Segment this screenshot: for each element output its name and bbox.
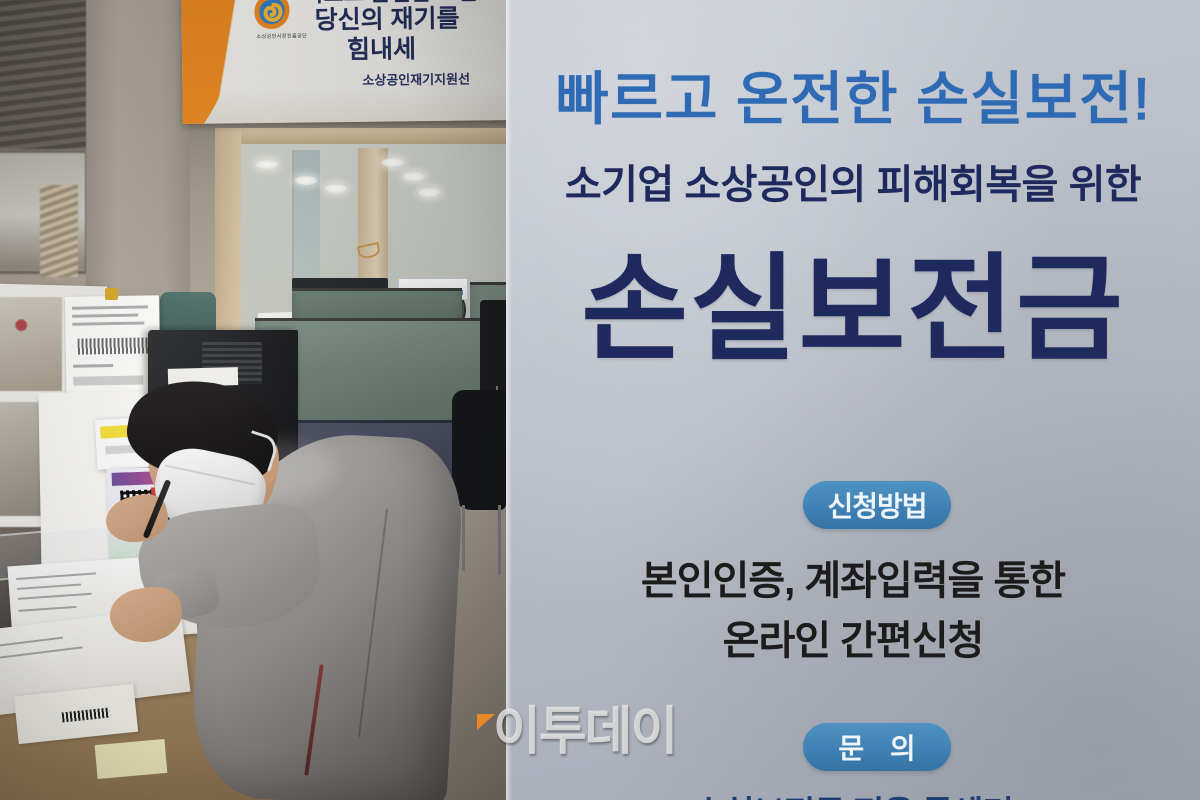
applicant-person <box>120 388 450 800</box>
banner-swoosh-graphic <box>181 0 253 124</box>
notice-barcode <box>78 337 152 354</box>
poster-main-title: 손실보전금 <box>506 215 1200 383</box>
poster-headline-top: 빠르고 온전한 손실보전! <box>506 52 1200 136</box>
screenshot-root: 소상공인시장진흥공단 빠르고 온전한 보전 당신의 재기를 힘내세 소상공인재기… <box>0 0 1200 800</box>
sbiz-support-banner: 소상공인시장진흥공단 빠르고 온전한 보전 당신의 재기를 힘내세 소상공인재기… <box>181 0 506 124</box>
poster-subheadline: 소기업 소상공인의 피해회복을 위한 <box>506 152 1200 210</box>
binder-clip <box>105 288 118 300</box>
notice-text-line <box>72 305 148 309</box>
poster-description-line1: 본인인증, 계좌입력을 통한 <box>506 548 1200 606</box>
sbiz-logo-icon <box>251 0 291 31</box>
banner-line3: 힘내세 <box>347 28 506 66</box>
interior-wall-divider <box>292 150 294 298</box>
form-text-line <box>0 646 82 659</box>
ceiling-light <box>325 184 347 193</box>
form-text-line <box>18 593 92 600</box>
displayed-artwork <box>0 295 64 393</box>
form-text-line <box>18 606 76 612</box>
badge-application-method: 신청방법 <box>803 481 951 529</box>
office-chair-black <box>480 300 506 396</box>
poster-cutoff-line: 손실보전금 전용 콜센터 <box>506 786 1200 800</box>
form-text-line <box>0 637 63 648</box>
banner-logo-caption: 소상공인시장진흥공단 <box>242 32 322 40</box>
poster-description-line2: 온라인 간편신청 <box>506 608 1200 666</box>
notice-text-line <box>72 321 144 325</box>
notice-text-line <box>73 364 113 367</box>
form-text-line <box>17 583 81 589</box>
staircase <box>40 185 78 277</box>
office-scene-photo: 소상공인시장진흥공단 빠르고 온전한 보전 당신의 재기를 힘내세 소상공인재기… <box>0 0 506 800</box>
ceiling-light <box>295 176 317 185</box>
badge-inquiry: 문 의 <box>803 723 951 771</box>
loss-compensation-poster: 빠르고 온전한 손실보전! 소기업 소상공인의 피해회복을 위한 손실보전금 신… <box>506 0 1200 800</box>
form-text-line <box>16 572 96 580</box>
chair-leg <box>462 505 465 571</box>
banner-line4: 소상공인재기지원선 <box>362 68 506 89</box>
office-chair-black <box>452 390 506 510</box>
chair-leg <box>498 505 501 575</box>
ceiling-light <box>418 188 440 197</box>
doorway-header <box>215 128 506 144</box>
notice-text-line <box>73 375 143 385</box>
wall-pillar <box>86 0 190 296</box>
ceiling-light <box>382 158 404 167</box>
notice-text-line <box>72 314 138 318</box>
ceiling-light <box>256 160 278 169</box>
ceiling-light <box>403 172 425 181</box>
